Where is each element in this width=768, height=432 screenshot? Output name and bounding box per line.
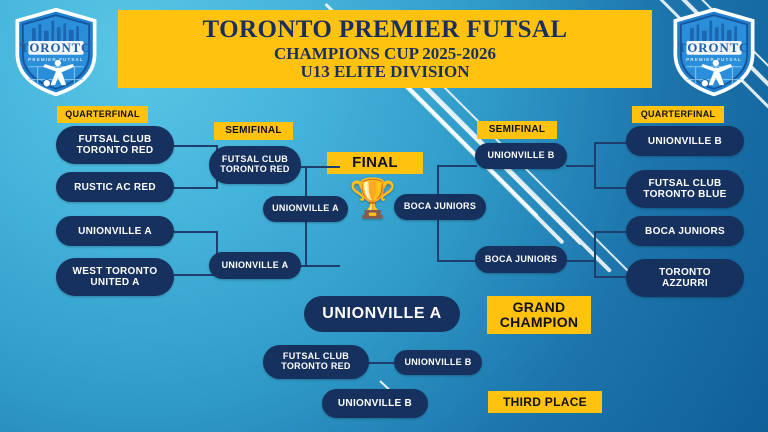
- team-name-line-1: BOCA JUNIORS: [645, 226, 725, 237]
- team-name-line-2: TORONTO RED: [281, 362, 350, 372]
- bracket-poster: TORONTO PREMIER FUTSAL TORONTO PREMIER F…: [0, 0, 768, 432]
- team-name-line-1: UNIONVILLE A: [78, 226, 152, 237]
- title-line-1: TORONTO PREMIER FUTSAL: [203, 17, 568, 43]
- team-pill[interactable]: TORONTO AZZURRI: [626, 259, 744, 297]
- team-pill[interactable]: UNIONVILLE B: [322, 389, 428, 418]
- label-grand-champion: GRAND CHAMPION: [487, 296, 591, 334]
- label-third-place: THIRD PLACE: [488, 391, 602, 413]
- toronto-premier-futsal-shield-icon: TORONTO PREMIER FUTSAL: [10, 6, 102, 98]
- team-name-line-1: FUTSAL CLUB: [78, 134, 151, 145]
- grand-champion-line-1: GRAND: [513, 300, 566, 315]
- title-banner: TORONTO PREMIER FUTSAL CHAMPIONS CUP 202…: [118, 10, 652, 88]
- trophy-icon: 🏆: [349, 180, 396, 218]
- team-name-line-2: AZZURRI: [662, 278, 708, 289]
- label-right-semifinal: SEMIFINAL: [477, 121, 557, 139]
- team-name-line-1: UNIONVILLE B: [648, 136, 722, 147]
- team-pill[interactable]: UNIONVILLE A: [209, 252, 301, 279]
- team-pill[interactable]: FUTSAL CLUB TORONTO RED: [209, 146, 301, 184]
- team-pill[interactable]: RUSTIC AC RED: [56, 172, 174, 202]
- team-name-line-1: RUSTIC AC RED: [74, 182, 156, 193]
- label-final: FINAL: [327, 152, 423, 174]
- team-pill[interactable]: UNIONVILLE A: [56, 216, 174, 246]
- team-name-line-1: BOCA JUNIORS: [485, 255, 557, 265]
- team-name-line-1: TORONTO: [659, 267, 711, 278]
- team-pill[interactable]: UNIONVILLE B: [626, 126, 744, 156]
- connector-line: [437, 260, 477, 262]
- team-name-line-1: UNIONVILLE A: [272, 204, 339, 214]
- connector-line: [594, 231, 596, 278]
- svg-text:TORONTO: TORONTO: [20, 41, 92, 55]
- team-pill[interactable]: WEST TORONTO UNITED A: [56, 258, 174, 296]
- team-name-line-1: BOCA JUNIORS: [404, 202, 476, 212]
- team-pill[interactable]: UNIONVILLE B: [475, 143, 567, 169]
- label-left-quarterfinal: QUARTERFINAL: [57, 106, 148, 123]
- team-name-line-1: FUTSAL CLUB: [648, 178, 721, 189]
- connector-line: [174, 231, 218, 233]
- team-pill[interactable]: BOCA JUNIORS: [626, 216, 744, 246]
- label-left-semifinal: SEMIFINAL: [214, 122, 293, 140]
- grand-champion-line-2: CHAMPION: [500, 315, 579, 330]
- team-name-line-1: UNIONVILLE B: [404, 358, 471, 368]
- connector-line: [174, 145, 218, 147]
- toronto-premier-futsal-shield-icon: TORONTO PREMIER FUTSAL: [668, 6, 760, 98]
- team-name-line-2: TORONTO RED: [77, 145, 154, 156]
- logo-left: TORONTO PREMIER FUTSAL: [10, 6, 102, 98]
- team-pill[interactable]: FUTSAL CLUB TORONTO RED: [56, 126, 174, 164]
- label-right-quarterfinal: QUARTERFINAL: [632, 106, 724, 123]
- team-pill[interactable]: BOCA JUNIORS: [475, 246, 567, 273]
- title-line-2: CHAMPIONS CUP 2025-2026: [274, 45, 496, 62]
- connector-line: [437, 165, 477, 167]
- team-name-line-1: WEST TORONTO: [73, 266, 158, 277]
- team-pill[interactable]: BOCA JUNIORS: [394, 194, 486, 220]
- svg-text:TORONTO: TORONTO: [678, 41, 750, 55]
- connector-line: [566, 260, 596, 262]
- team-pill[interactable]: UNIONVILLE B: [394, 350, 482, 375]
- grand-champion-pill[interactable]: UNIONVILLE A: [304, 296, 460, 332]
- team-pill[interactable]: FUTSAL CLUB TORONTO RED: [263, 345, 369, 379]
- connector-line: [566, 165, 596, 167]
- team-pill[interactable]: UNIONVILLE A: [263, 196, 348, 222]
- logo-right: TORONTO PREMIER FUTSAL: [668, 6, 760, 98]
- team-name-line-2: TORONTO BLUE: [643, 189, 726, 200]
- team-name-line-2: TORONTO RED: [220, 165, 289, 175]
- team-pill[interactable]: FUTSAL CLUB TORONTO BLUE: [626, 170, 744, 208]
- connector-line: [174, 187, 218, 189]
- title-line-3: U13 ELITE DIVISION: [300, 63, 469, 80]
- team-name-line-1: UNIONVILLE B: [487, 151, 554, 161]
- team-name-line-1: UNIONVILLE A: [222, 261, 289, 271]
- team-name-line-2: UNITED A: [90, 277, 139, 288]
- team-name-line-1: UNIONVILLE B: [338, 398, 412, 409]
